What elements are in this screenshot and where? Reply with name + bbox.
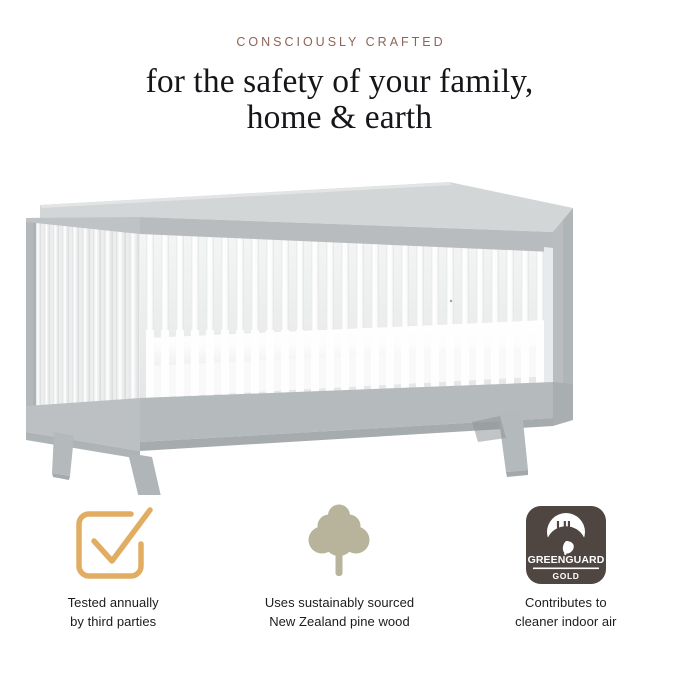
feature-caption: Uses sustainably sourced New Zealand pin… [265, 594, 414, 631]
badge-tier-text: GOLD [552, 571, 579, 581]
ul-mark-text: UL [556, 518, 576, 535]
tree-icon [293, 500, 385, 588]
product-feature-panel: CONSCIOUSLY CRAFTED for the safety of yo… [0, 0, 679, 679]
greenguard-gold-badge-icon: UL GREENGUARD GOLD [520, 500, 612, 588]
product-image-crib [0, 170, 679, 495]
feature-caption: Tested annually by third parties [68, 594, 159, 631]
crib-left-end-slats [26, 222, 140, 410]
page-title: for the safety of your family, home & ea… [0, 64, 679, 136]
caption-line-1: Tested annually [68, 595, 159, 610]
feature-icon-wrap [293, 498, 385, 590]
headline-line-1: for the safety of your family, [146, 63, 534, 100]
caption-line-1: Uses sustainably sourced [265, 595, 414, 610]
caption-line-1: Contributes to [525, 595, 607, 610]
feature-caption: Contributes to cleaner indoor air [515, 594, 616, 631]
header: CONSCIOUSLY CRAFTED for the safety of yo… [0, 36, 679, 136]
feature-icon-wrap: UL GREENGUARD GOLD [520, 498, 612, 590]
caption-line-2: New Zealand pine wood [265, 613, 414, 632]
feature-sustainable-wood: Uses sustainably sourced New Zealand pin… [226, 498, 452, 631]
leg-front-left [52, 432, 74, 476]
caption-line-2: cleaner indoor air [515, 613, 616, 632]
badge-title-text: GREENGUARD [527, 554, 604, 566]
caption-line-2: by third parties [68, 613, 159, 632]
leg-center-front [128, 453, 168, 495]
feature-list: Tested annually by third parties [0, 498, 679, 631]
feature-greenguard-gold: UL GREENGUARD GOLD Contributes to cleane… [453, 498, 679, 631]
hardware-dot [450, 300, 452, 302]
headline-line-2: home & earth [0, 100, 679, 136]
checkbox-check-icon [67, 500, 159, 588]
feature-tested-annually: Tested annually by third parties [0, 498, 226, 631]
feature-icon-wrap [67, 498, 159, 590]
crib-illustration [0, 170, 679, 495]
eyebrow-text: CONSCIOUSLY CRAFTED [0, 36, 679, 49]
